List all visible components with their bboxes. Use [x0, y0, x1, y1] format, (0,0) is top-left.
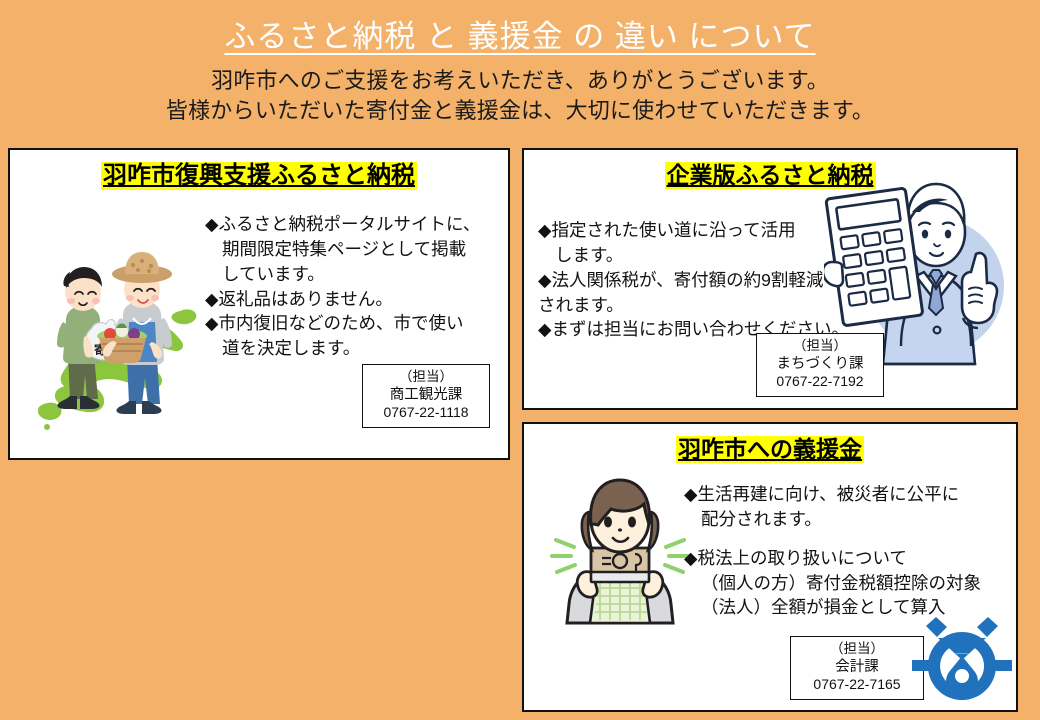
bullet-first-line: ◆返礼品はありません。 — [205, 287, 505, 312]
contact-telephone[interactable]: 0767-22-1118 — [373, 404, 479, 422]
bullet-first-line: ◆市内復旧などのため、市で使い — [205, 311, 505, 336]
contact-telephone[interactable]: 0767-22-7192 — [767, 373, 873, 391]
page-subtitle: 羽咋市へのご支援をお考えいただき、ありがとうございます。 皆様からいただいた寄付… — [0, 66, 1040, 127]
person-farmer — [97, 252, 172, 414]
contact-department: 商工観光課 — [373, 386, 479, 404]
bullet-cont-line: 配分されます。 — [684, 507, 1014, 532]
page-header: ふるさと納税 と 義援金 の 違い について 羽咋市へのご支援をお考えいただき、… — [0, 0, 1040, 126]
contact-label: （担当） — [373, 369, 479, 386]
page-subtitle-line-2: 皆様からいただいた寄付金と義援金は、大切に使わせていただきます。 — [0, 96, 1040, 126]
panel-furusato-title-wrap: 羽咋市復興支援ふるさと納税 — [10, 150, 508, 190]
contact-label: （担当） — [767, 338, 873, 355]
bullet-cont-line: しています。 — [205, 262, 505, 287]
contact-label: （担当） — [801, 641, 913, 658]
panel-gienkin: 羽咋市への義援金 — [522, 422, 1018, 712]
woman-holding-money-envelope-illustration — [540, 472, 700, 627]
page-title: ふるさと納税 と 義援金 の 違い について — [0, 18, 1040, 57]
woman-head — [582, 480, 658, 552]
contact-department: まちづくり課 — [767, 355, 873, 373]
panel-furusato-bullets: ◆ふるさと納税ポータルサイトに、期間限定特集ページとして掲載しています。◆返礼品… — [205, 212, 505, 361]
page-subtitle-line-1: 羽咋市へのご支援をお考えいただき、ありがとうございます。 — [0, 66, 1040, 96]
bullet-first-line: ◆税法上の取り扱いについて — [684, 546, 1014, 571]
bullet-first-line: ◆生活再建に向け、被災者に公平に — [684, 482, 1014, 507]
bullet-cont-line: 道を決定します。 — [205, 336, 505, 361]
panel-furusato-title: 羽咋市復興支援ふるさと納税 — [101, 162, 417, 190]
bullet-first-line: ◆ふるさと納税ポータルサイトに、 — [205, 212, 505, 237]
panel-gienkin-title: 羽咋市への義援金 — [676, 436, 864, 463]
panel-corporate-furusato-tax: 企業版ふるさと納税 — [522, 148, 1018, 410]
bullet-cont-line: します。 — [538, 243, 888, 268]
contact-box-kaikei: （担当） 会計課 0767-22-7165 — [790, 636, 924, 700]
bullet-first-line: ◆指定された使い道に沿って活用 — [538, 218, 888, 243]
contact-department: 会計課 — [801, 658, 913, 676]
bullet-cont-line: （個人の方）寄付金税額控除の対象 — [684, 571, 1014, 596]
hakui-city-emblem-icon — [912, 616, 1012, 708]
donation-people-japan-map-illustration: 寄付 — [30, 218, 215, 443]
contact-box-shoko-kanko: （担当） 商工観光課 0767-22-1118 — [362, 364, 490, 428]
bullet-cont-line: 期間限定特集ページとして掲載 — [205, 237, 505, 262]
panel-furusato-tax: 羽咋市復興支援ふるさと納税 — [8, 148, 510, 460]
panel-gienkin-bullets: ◆生活再建に向け、被災者に公平に配分されます。◆税法上の取り扱いについて（個人の… — [684, 482, 1014, 620]
panel-corporate-bullets: ◆指定された使い道に沿って活用します。◆法人関係税が、寄付額の約9割軽減されます… — [538, 218, 888, 342]
contact-telephone[interactable]: 0767-22-7165 — [801, 676, 913, 694]
bullet-first-line: ◆法人関係税が、寄付額の約9割軽減 — [538, 268, 888, 293]
panel-gienkin-title-wrap: 羽咋市への義援金 — [524, 424, 1016, 463]
bullet-spacer — [684, 532, 1014, 546]
straw-hat — [112, 252, 172, 283]
bullet-cont-line: されます。 — [538, 293, 888, 318]
contact-box-machizukuri: （担当） まちづくり課 0767-22-7192 — [756, 333, 884, 397]
